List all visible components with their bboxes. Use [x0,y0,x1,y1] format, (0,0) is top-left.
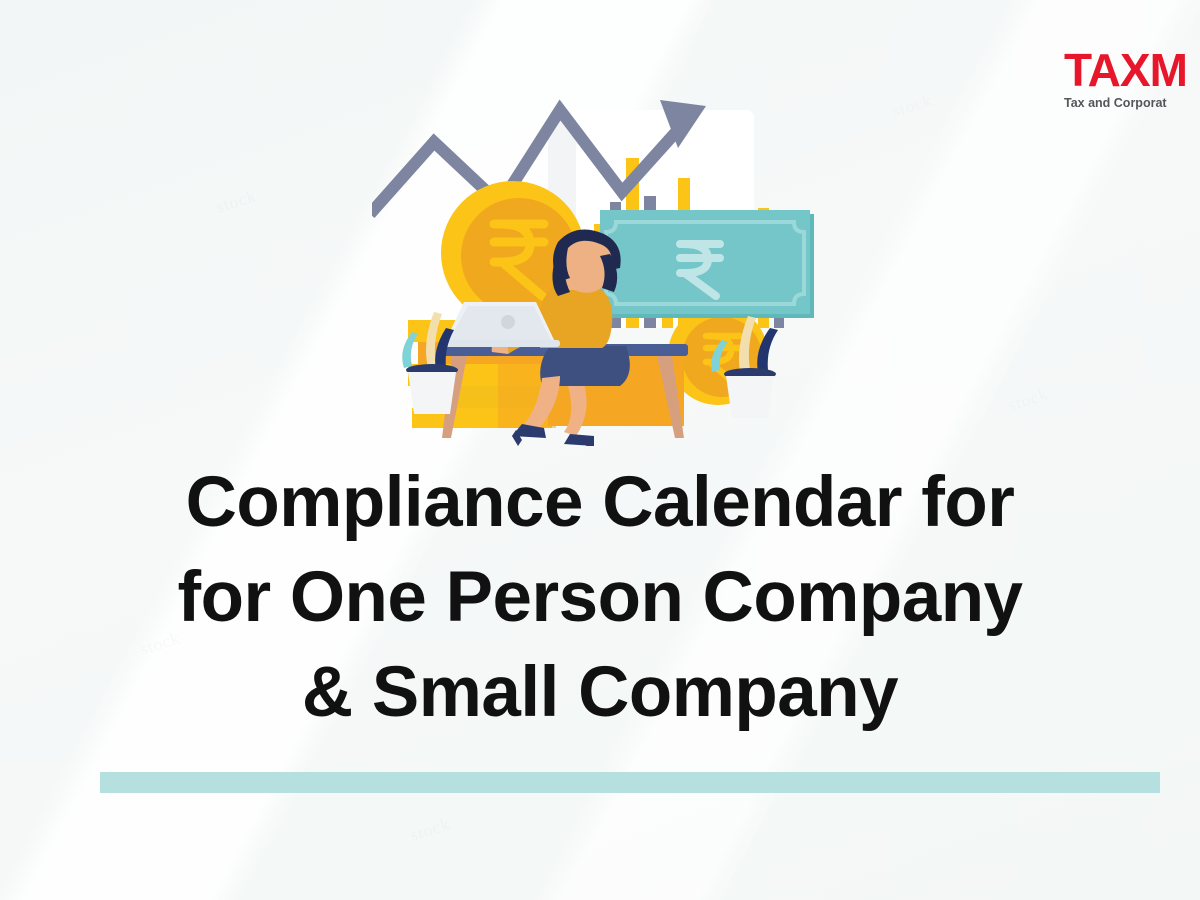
watermark-text: stock [1006,384,1051,416]
watermark-text: stock [408,814,453,846]
page-title: Compliance Calendar for for One Person C… [60,455,1140,740]
page-title-line-3: & Small Company [60,645,1140,740]
page-title-line-1: Compliance Calendar for [60,455,1140,550]
brand-tagline: Tax and Corporat [1064,96,1200,110]
hero-illustration-icon [372,96,832,446]
page-title-line-2: for One Person Company [60,550,1140,645]
brand-wordmark: TAXM [1064,48,1200,92]
brand-logo[interactable]: TAXM Tax and Corporat [1064,48,1200,110]
poster-canvas: stock stock stock stock stock stock TAXM… [0,0,1200,900]
divider-bar [100,772,1160,793]
watermark-text: stock [214,186,259,218]
watermark-text: stock [890,90,935,122]
rupee-banknote-icon [600,210,814,318]
